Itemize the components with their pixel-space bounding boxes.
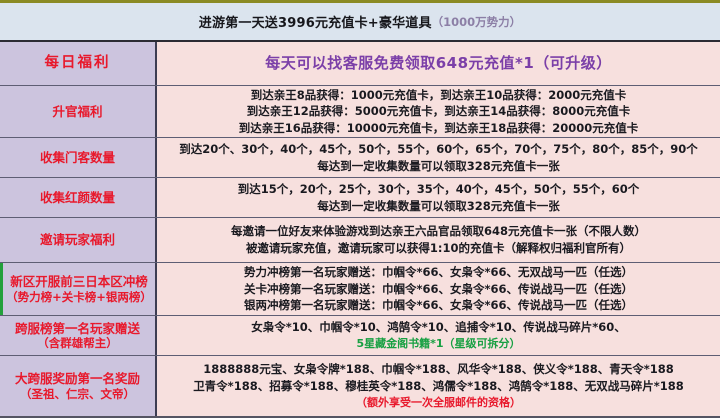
value-line: 到达15个，20个，25个，30个，35个，40个，45个，50个，55个，60… (238, 181, 640, 198)
row-label-text: 跨服榜第一名玩家赠送 (15, 321, 140, 337)
benefits-table: 每日福利 每天可以找客服免费领取648元充值*1（可升级） 升官福利 到达亲王8… (0, 42, 720, 418)
table-row: 每日福利 每天可以找客服免费领取648元充值*1（可升级） (0, 42, 720, 86)
value-line: 关卡冲榜第一名玩家赠送：巾帼令*66、女枭令*66、传说战马一匹（任选） (244, 281, 633, 298)
row-label-subtext: （势力榜+关卡榜+银两榜） (6, 290, 152, 304)
value-line: 到达20个、30个，40个，45个，50个，55个，60个，65个，70个，75… (179, 141, 698, 158)
row-value-cross-server-rank: 女枭令*10、巾帼令*10、鸿鹄令*10、追捕令*10、传说战马碎片*60、 5… (157, 316, 720, 355)
value-line: 到达亲王12品获得：5000元充值卡，到达亲王14品获得：8000元充值卡 (247, 103, 631, 120)
row-value-collect-beauties: 到达15个，20个，25个，30个，35个，40个，45个，50个，55个，60… (157, 178, 720, 217)
row-label-text: 大跨服奖励第一名奖励 (15, 371, 140, 387)
value-line: 1888888元宝、女枭令牌*188、巾帼令*188、风华令*188、侠义令*1… (203, 361, 674, 378)
row-label-text: 邀请玩家福利 (40, 232, 115, 248)
row-value-grand-cross-server-reward: 1888888元宝、女枭令牌*188、巾帼令*188、风华令*188、侠义令*1… (157, 356, 720, 416)
value-line: 银两冲榜第一名玩家赠送：巾帼令*66、女枭令*66、传说战马一匹（任选） (244, 297, 633, 314)
benefits-table-sheet: 进游第一天送3996元充值卡+豪华道具（1000万势力） 每日福利 每天可以找客… (0, 0, 720, 418)
value-line: 每邀请一位好友来体验游戏到达亲王六品官品领取648元充值卡一张（不限人数） (231, 223, 646, 240)
row-label-invite-welfare: 邀请玩家福利 (0, 218, 157, 262)
table-row: 收集红颜数量 到达15个，20个，25个，30个，35个，40个，45个，50个… (0, 178, 720, 218)
row-label-text: 收集红颜数量 (40, 190, 115, 206)
value-line: 女枭令*10、巾帼令*10、鸿鹄令*10、追捕令*10、传说战马碎片*60、 (251, 319, 626, 336)
banner-title: 进游第一天送3996元充值卡+豪华道具 (199, 12, 432, 31)
value-line: 被邀请玩家充值，邀请玩家可以获得1:10的充值卡（解释权归福利官所有） (246, 240, 631, 257)
banner-row: 进游第一天送3996元充值卡+豪华道具（1000万势力） (0, 3, 720, 42)
banner-subtitle: （1000万势力） (432, 14, 522, 30)
row-label-collect-guests: 收集门客数量 (0, 138, 157, 177)
value-line: 每达到一定收集数量可以领取328元充值卡一张 (317, 158, 560, 175)
row-label-promotion-welfare: 升官福利 (0, 86, 157, 137)
row-label-daily-welfare: 每日福利 (0, 42, 157, 85)
row-label-cross-server-rank: 跨服榜第一名玩家赠送 （含群雄帮主） (0, 316, 157, 355)
value-line: 每达到一定收集数量可以领取328元充值卡一张 (317, 198, 560, 215)
row-value-new-server-rank: 势力冲榜第一名玩家赠送：巾帼令*66、女枭令*66、无双战马一匹（任选） 关卡冲… (157, 263, 720, 315)
value-line: 到达亲王16品获得：10000元充值卡，到达亲王18品获得：20000元充值卡 (239, 120, 639, 137)
value-line: 到达亲王8品获得：1000元充值卡，到达亲王10品获得：2000元充值卡 (251, 87, 627, 104)
row-value-invite-welfare: 每邀请一位好友来体验游戏到达亲王六品官品领取648元充值卡一张（不限人数） 被邀… (157, 218, 720, 262)
row-label-collect-beauties: 收集红颜数量 (0, 178, 157, 217)
row-label-text: 新区开服前三日本区冲榜 (10, 274, 148, 290)
table-row: 邀请玩家福利 每邀请一位好友来体验游戏到达亲王六品官品领取648元充值卡一张（不… (0, 218, 720, 263)
row-label-subtext: （含群雄帮主） (37, 336, 118, 350)
row-label-new-server-rank: 新区开服前三日本区冲榜 （势力榜+关卡榜+银两榜） (0, 263, 157, 315)
row-label-text: 升官福利 (52, 104, 102, 120)
row-label-subtext: （圣祖、仁宗、文帝） (20, 387, 135, 401)
row-value-promotion-welfare: 到达亲王8品获得：1000元充值卡，到达亲王10品获得：2000元充值卡 到达亲… (157, 86, 720, 137)
row-label-grand-cross-server-reward: 大跨服奖励第一名奖励 （圣祖、仁宗、文帝） (0, 356, 157, 416)
value-line-highlight: （额外享受一次全服邮件的资格） (356, 395, 521, 411)
value-line: 势力冲榜第一名玩家赠送：巾帼令*66、女枭令*66、无双战马一匹（任选） (244, 264, 633, 281)
value-line: 每天可以找客服免费领取648元充值*1（可升级） (265, 53, 612, 75)
table-row: 新区开服前三日本区冲榜 （势力榜+关卡榜+银两榜） 势力冲榜第一名玩家赠送：巾帼… (0, 263, 720, 316)
table-row: 跨服榜第一名玩家赠送 （含群雄帮主） 女枭令*10、巾帼令*10、鸿鹄令*10、… (0, 316, 720, 356)
value-line: 卫青令*188、招募令*188、穆桂英令*188、鸿儒令*188、鸿鹄令*188… (193, 378, 684, 395)
row-label-text: 收集门客数量 (40, 150, 115, 166)
value-line-highlight: 5星藏金阁书籍*1（星级可拆分） (356, 336, 520, 352)
row-value-daily-welfare: 每天可以找客服免费领取648元充值*1（可升级） (157, 42, 720, 85)
table-row: 大跨服奖励第一名奖励 （圣祖、仁宗、文帝） 1888888元宝、女枭令牌*188… (0, 356, 720, 416)
table-row: 升官福利 到达亲王8品获得：1000元充值卡，到达亲王10品获得：2000元充值… (0, 86, 720, 138)
row-value-collect-guests: 到达20个、30个，40个，45个，50个，55个，60个，65个，70个，75… (157, 138, 720, 177)
table-row: 收集门客数量 到达20个、30个，40个，45个，50个，55个，60个，65个… (0, 138, 720, 178)
row-label-text: 每日福利 (45, 54, 111, 72)
